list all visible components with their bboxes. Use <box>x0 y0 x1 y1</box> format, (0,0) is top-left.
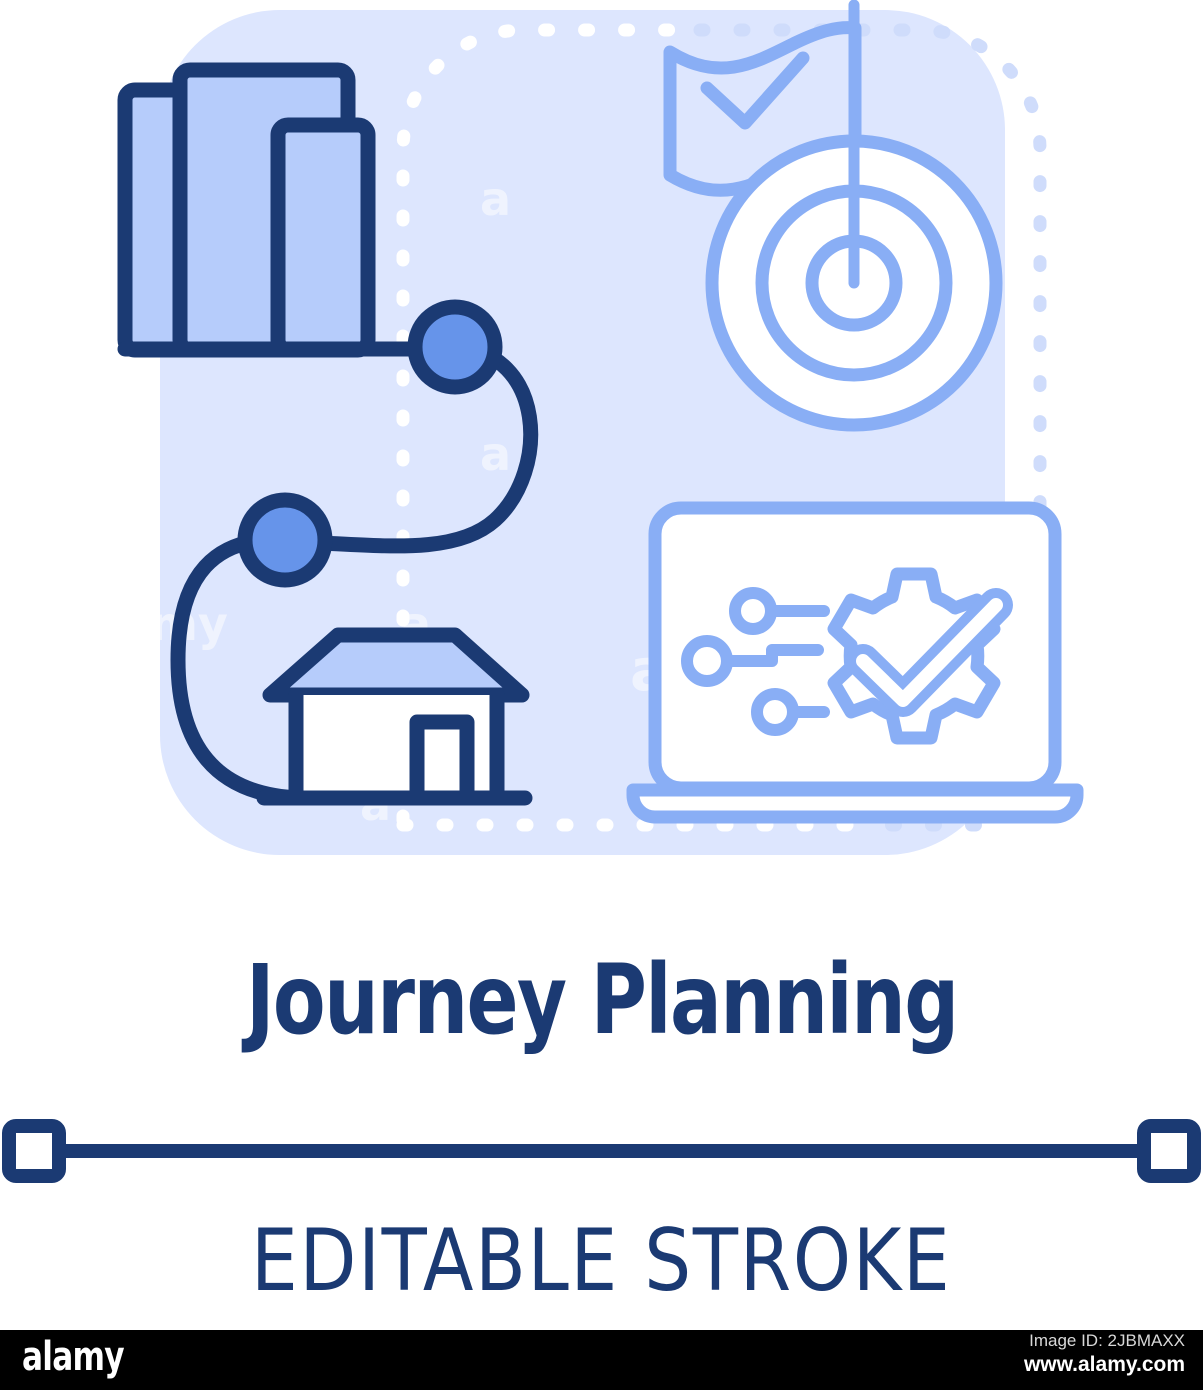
editable-stroke-bar <box>0 1118 1203 1184</box>
alamy-logo: alamy <box>22 1334 124 1380</box>
square-handle-right[interactable] <box>1144 1126 1194 1176</box>
svg-text:a: a <box>1060 427 1091 481</box>
image-id-text: Image ID: 2JBMAXX <box>1029 1331 1185 1351</box>
alamy-url-text: www.alamy.com <box>1024 1353 1185 1377</box>
waypoint-node-1 <box>415 307 495 387</box>
alamy-footer-bar: alamy Image ID: 2JBMAXX www.alamy.com <box>0 1330 1203 1390</box>
gear-check-icon <box>834 574 996 738</box>
svg-text:a: a <box>480 427 511 481</box>
editable-stroke-label: EDITABLE STROKE <box>251 1211 951 1311</box>
screenshot-root: a a a a my a a a alamy a <box>0 0 1203 1390</box>
house-door <box>417 722 467 798</box>
concept-title: Journey Planning <box>246 944 958 1056</box>
svg-text:a: a <box>480 172 511 226</box>
concept-title-wrapper: Journey Planning <box>0 945 1203 1055</box>
house-icon <box>264 635 525 798</box>
building-right <box>278 125 368 350</box>
editable-stroke-label-wrapper: EDITABLE STROKE <box>0 1215 1203 1307</box>
square-handle-left[interactable] <box>9 1126 59 1176</box>
waypoint-node-2 <box>245 500 325 580</box>
laptop-base <box>633 790 1077 817</box>
journey-planning-concept-icon: a a a a my a a a alamy a <box>0 0 1203 900</box>
